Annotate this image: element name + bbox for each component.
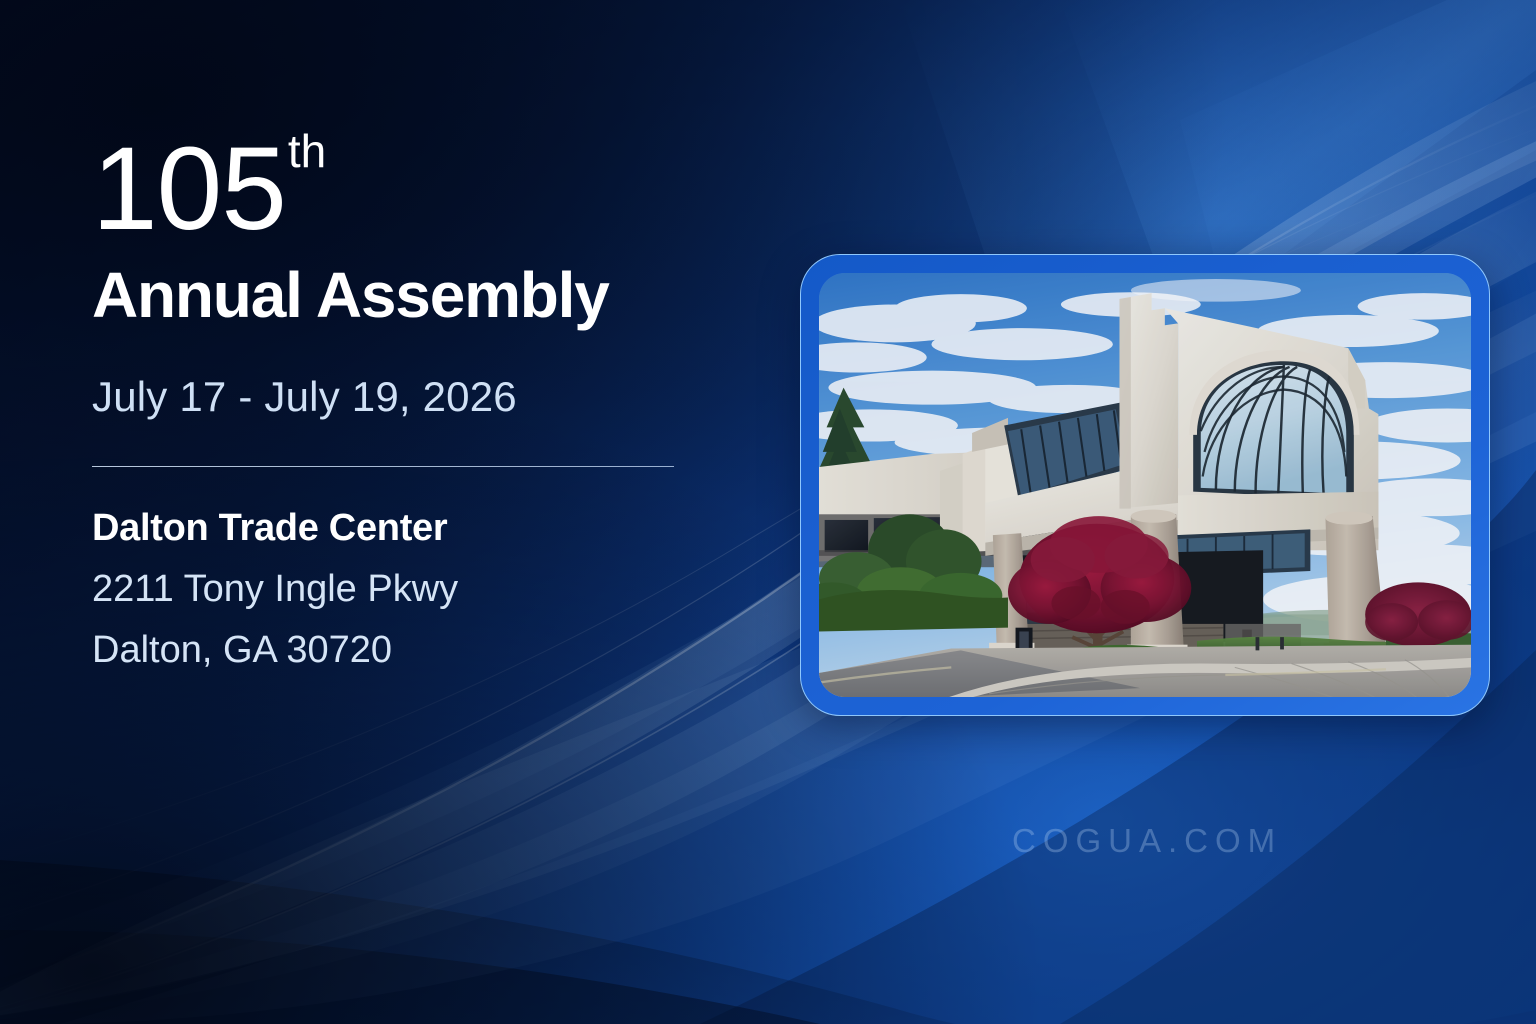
- watermark-cogua: COGUA.COM: [1012, 822, 1282, 860]
- venue-street-address: 2211 Tony Ingle Pkwy: [92, 568, 732, 611]
- edition-number-heading: 105th: [92, 130, 732, 260]
- section-divider: [92, 466, 674, 467]
- venue-photo-illustration: [819, 273, 1471, 697]
- page-title: Annual Assembly: [92, 262, 732, 329]
- venue-photo-card: [800, 254, 1490, 716]
- event-dates: July 17 - July 19, 2026: [92, 373, 732, 421]
- venue-city-state-zip: Dalton, GA 30720: [92, 629, 732, 672]
- edition-number: 105: [92, 123, 286, 255]
- venue-photo: [819, 273, 1471, 697]
- event-info-panel: 105th Annual Assembly July 17 - July 19,…: [92, 130, 732, 672]
- venue-name: Dalton Trade Center: [92, 507, 732, 550]
- edition-ordinal-suffix: th: [288, 125, 326, 177]
